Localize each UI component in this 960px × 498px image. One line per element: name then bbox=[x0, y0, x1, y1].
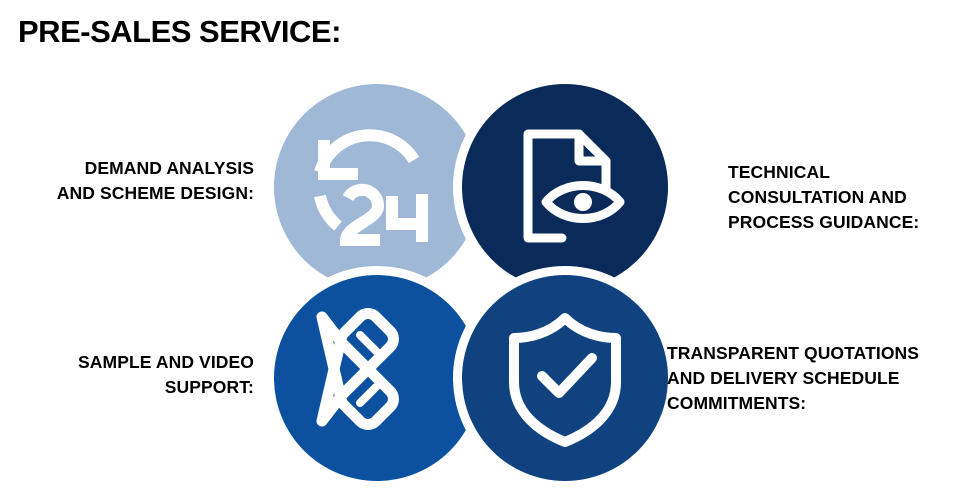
page-title: PRE-SALES SERVICE: bbox=[18, 10, 341, 54]
label-technical-consultation: TECHNICAL CONSULTATION AND PROCESS GUIDA… bbox=[728, 160, 958, 235]
label-line: SAMPLE AND VIDEO bbox=[0, 350, 254, 375]
label-line: AND SCHEME DESIGN: bbox=[0, 181, 254, 206]
circle-technical-consultation bbox=[462, 84, 668, 290]
label-sample-video-support: SAMPLE AND VIDEO SUPPORT: bbox=[0, 350, 254, 400]
label-line: TECHNICAL bbox=[728, 160, 958, 185]
label-line: TRANSPARENT QUOTATIONS bbox=[667, 341, 959, 366]
label-line: CONSULTATION AND bbox=[728, 185, 958, 210]
label-line: AND DELIVERY SCHEDULE bbox=[667, 366, 959, 391]
label-line: SUPPORT: bbox=[0, 375, 254, 400]
label-line: DEMAND ANALYSIS bbox=[0, 156, 254, 181]
circle-sample-video-support bbox=[274, 275, 480, 481]
circle-transparent-quotations bbox=[462, 275, 668, 481]
circle-cluster-diagram bbox=[272, 86, 672, 482]
label-line: COMMITMENTS: bbox=[667, 391, 959, 416]
label-line: PROCESS GUIDANCE: bbox=[728, 210, 958, 235]
label-transparent-quotations: TRANSPARENT QUOTATIONS AND DELIVERY SCHE… bbox=[667, 341, 959, 416]
label-demand-analysis: DEMAND ANALYSIS AND SCHEME DESIGN: bbox=[0, 156, 254, 206]
circle-demand-analysis bbox=[274, 84, 480, 290]
